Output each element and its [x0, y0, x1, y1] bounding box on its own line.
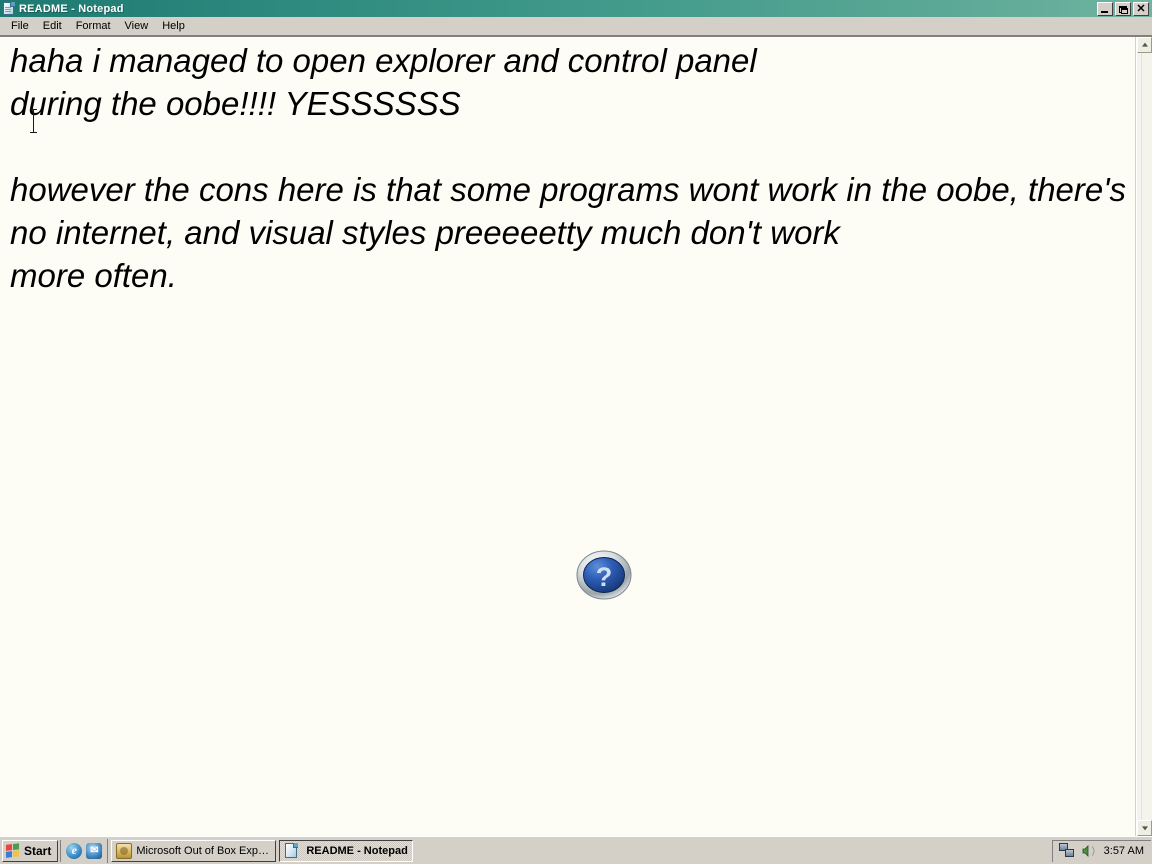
- window-titlebar[interactable]: README - Notepad ✕: [0, 0, 1152, 17]
- network-connection-icon[interactable]: [1059, 843, 1075, 859]
- window-client-area: haha i managed to open explorer and cont…: [0, 36, 1152, 836]
- minimize-button[interactable]: [1097, 2, 1113, 16]
- system-tray: 3:57 AM: [1052, 840, 1151, 862]
- menu-item-format[interactable]: Format: [69, 18, 118, 35]
- oobe-setup-icon: [116, 843, 132, 859]
- menubar: File Edit Format View Help: [0, 17, 1152, 36]
- window-title: README - Notepad: [19, 3, 1097, 15]
- notepad-window: README - Notepad ✕ File Edit Format View…: [0, 0, 1152, 836]
- vertical-scrollbar[interactable]: [1136, 37, 1152, 836]
- volume-speaker-icon[interactable]: [1080, 843, 1096, 859]
- windows-flag-icon: [6, 843, 21, 859]
- document-text[interactable]: haha i managed to open explorer and cont…: [10, 39, 1131, 297]
- notepad-document-icon: [2, 2, 16, 16]
- scrollbar-track[interactable]: [1137, 53, 1152, 820]
- menu-item-edit[interactable]: Edit: [36, 18, 69, 35]
- menu-item-help[interactable]: Help: [155, 18, 192, 35]
- window-controls: ✕: [1097, 2, 1149, 16]
- taskbar-item-label: Microsoft Out of Box Expe...: [136, 845, 271, 857]
- restore-button[interactable]: [1115, 2, 1131, 16]
- outlook-express-icon[interactable]: ✉: [86, 843, 102, 859]
- close-icon: ✕: [1134, 3, 1148, 15]
- start-button[interactable]: Start: [2, 840, 58, 862]
- menu-item-view[interactable]: View: [118, 18, 156, 35]
- notepad-document-icon: [284, 843, 300, 859]
- quick-launch-bar: e ✉: [60, 840, 107, 862]
- restore-icon: [1119, 6, 1127, 13]
- menu-item-file[interactable]: File: [4, 18, 36, 35]
- desktop-screen: README - Notepad ✕ File Edit Format View…: [0, 0, 1152, 864]
- scroll-up-button[interactable]: [1137, 37, 1152, 53]
- taskbar-item-readme-notepad[interactable]: README - Notepad: [279, 840, 412, 862]
- taskbar-clock[interactable]: 3:57 AM: [1101, 845, 1147, 857]
- start-button-label: Start: [24, 844, 51, 858]
- taskbar: Start e ✉ Microsoft Out of Box Expe...: [0, 836, 1152, 864]
- close-button[interactable]: ✕: [1133, 2, 1149, 16]
- scroll-down-button[interactable]: [1137, 820, 1152, 836]
- internet-explorer-icon[interactable]: e: [66, 843, 82, 859]
- chevron-up-icon: [1142, 43, 1148, 47]
- taskbar-task-buttons: Microsoft Out of Box Expe... README - No…: [107, 839, 1051, 863]
- notepad-text-area[interactable]: haha i managed to open explorer and cont…: [0, 37, 1136, 836]
- minimize-icon: [1101, 11, 1108, 13]
- chevron-down-icon: [1142, 826, 1148, 830]
- svg-text:?: ?: [596, 562, 613, 592]
- taskbar-item-oobe[interactable]: Microsoft Out of Box Expe...: [111, 840, 276, 862]
- help-question-mark-cursor: ?: [576, 549, 632, 601]
- taskbar-item-label: README - Notepad: [304, 845, 407, 857]
